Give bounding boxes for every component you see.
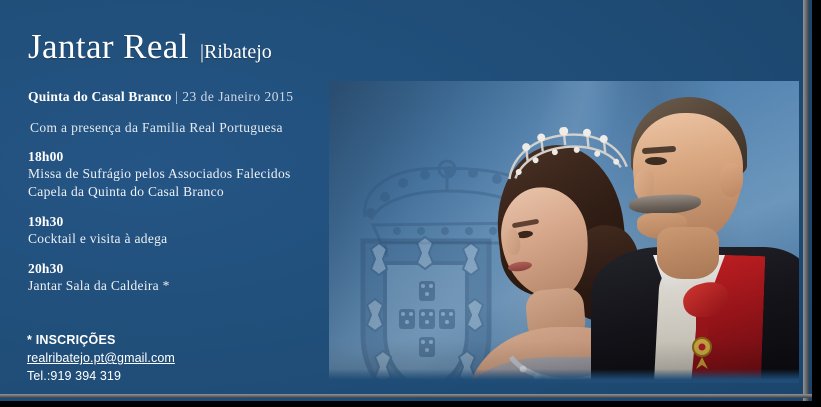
schedule-desc-line1: Cocktail e visita à adega bbox=[28, 230, 291, 248]
schedule-list: 18h00 Missa de Sufrágio pelos Associados… bbox=[28, 148, 291, 295]
event-date: | 23 de Janeiro 2015 bbox=[175, 89, 293, 104]
duke-eye bbox=[645, 157, 667, 165]
venue-line: Quinta do Casal Branco | 23 de Janeiro 2… bbox=[28, 89, 294, 105]
schedule-item: 18h00 Missa de Sufrágio pelos Associados… bbox=[28, 148, 291, 201]
schedule-item: 19h30 Cocktail e visita à adega bbox=[28, 213, 291, 248]
schedule-time: 19h30 bbox=[28, 213, 291, 230]
phone-number: Tel.:919 394 319 bbox=[27, 367, 175, 385]
venue-name: Quinta do Casal Branco bbox=[28, 89, 175, 104]
inscriptions-label: * INSCRIÇÕES bbox=[27, 331, 175, 349]
photo-bottom-fade bbox=[329, 369, 799, 383]
email-link[interactable]: realribatejo.pt@gmail.com bbox=[27, 349, 175, 367]
order-medal-icon bbox=[685, 317, 719, 375]
duke-nose bbox=[634, 169, 654, 199]
schedule-time: 18h00 bbox=[28, 148, 291, 165]
poster-text-column: Jantar Real |Ribatejo Quinta do Casal Br… bbox=[0, 0, 340, 401]
title-region: |Ribatejo bbox=[198, 41, 272, 63]
schedule-time: 20h30 bbox=[28, 260, 291, 277]
duke-ear bbox=[719, 163, 743, 197]
frame-edge-right bbox=[803, 0, 809, 401]
title-main: Jantar Real bbox=[28, 27, 198, 66]
poster-root: Jantar Real |Ribatejo Quinta do Casal Br… bbox=[0, 0, 821, 407]
page-title: Jantar Real |Ribatejo bbox=[28, 27, 272, 67]
royal-couple-photo bbox=[329, 81, 799, 383]
presence-note: Com a presença da Familia Real Portugues… bbox=[30, 120, 283, 136]
poster-card: Jantar Real |Ribatejo Quinta do Casal Br… bbox=[0, 0, 812, 401]
contact-block: * INSCRIÇÕES realribatejo.pt@gmail.com T… bbox=[27, 331, 175, 385]
duke-neck bbox=[657, 227, 719, 279]
schedule-item: 20h30 Jantar Sala da Caldeira * bbox=[28, 260, 291, 295]
schedule-desc-line1: Jantar Sala da Caldeira * bbox=[28, 277, 291, 295]
schedule-desc-line1: Missa de Sufrágio pelos Associados Falec… bbox=[28, 165, 291, 183]
duke-figure bbox=[609, 87, 799, 383]
schedule-desc-line2: Capela da Quinta do Casal Branco bbox=[28, 183, 291, 201]
